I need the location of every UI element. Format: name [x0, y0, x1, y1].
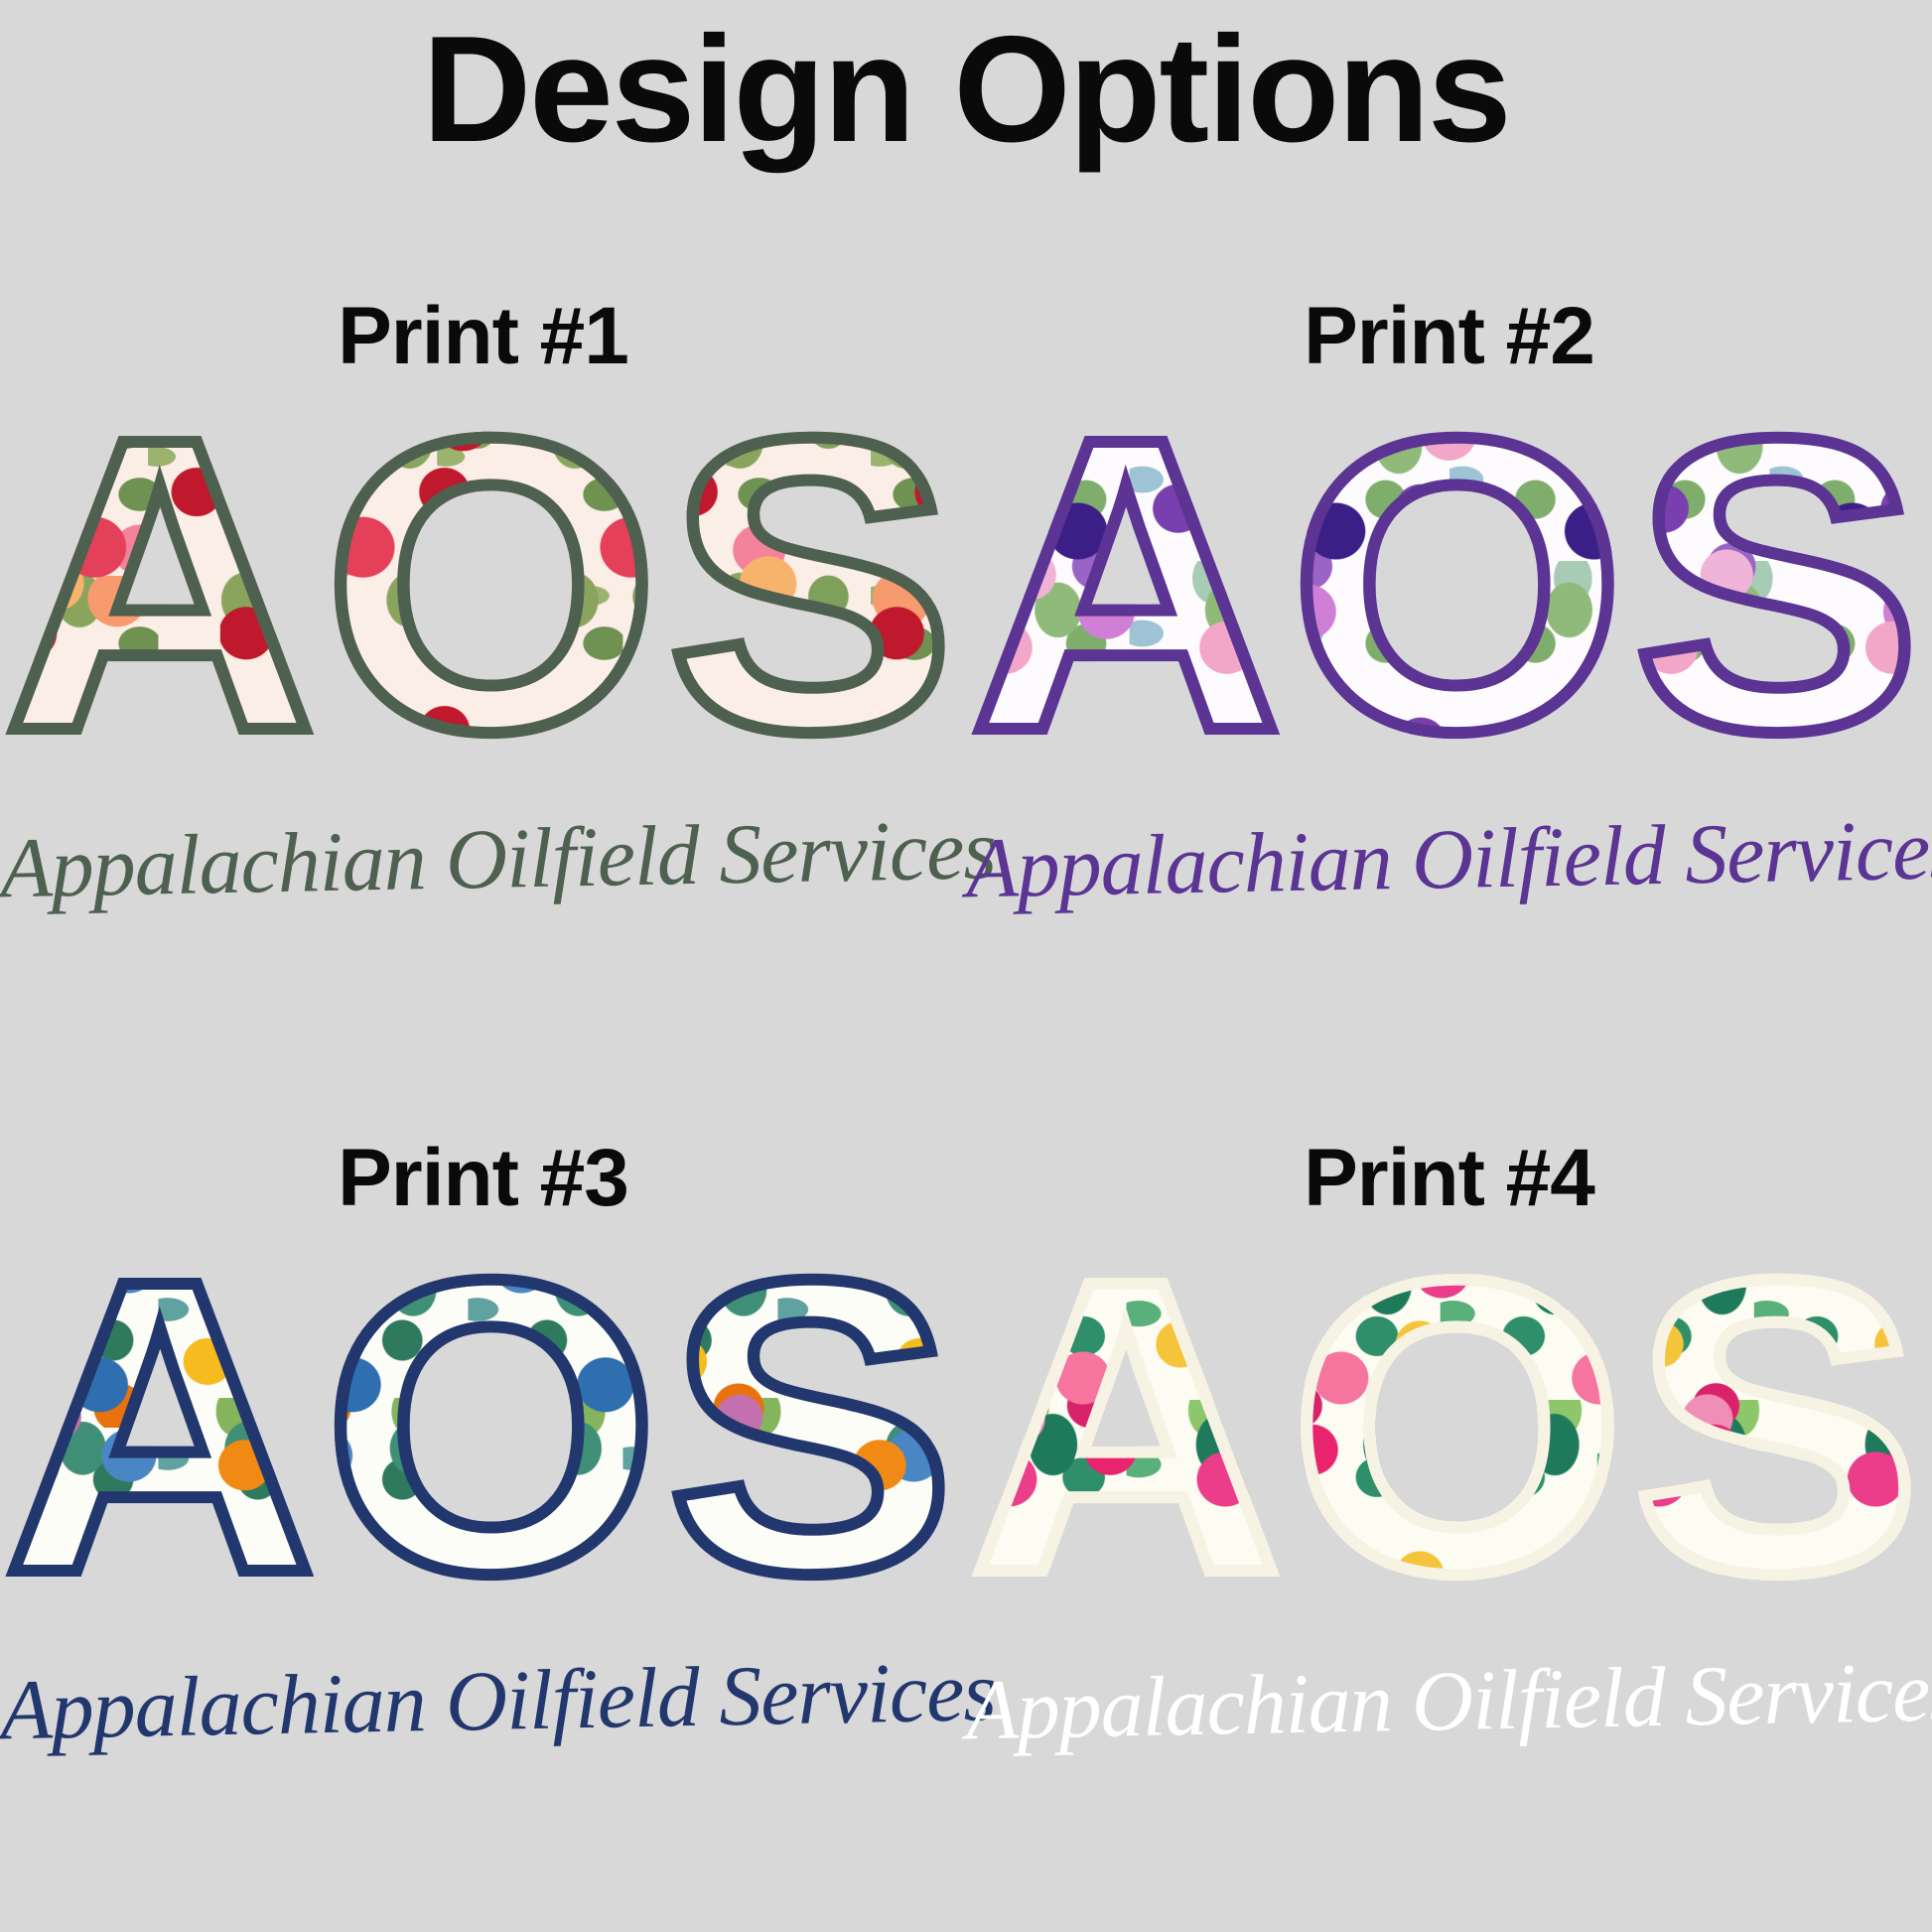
design-option-print-3[interactable]: Print #3 AOS Appalachian Oilfield Servic…: [0, 1090, 966, 1932]
monogram-aos-print-1: AOS: [4, 387, 962, 783]
tagline-print-3: Appalachian Oilfield Services: [0, 1649, 967, 1753]
design-option-print-4[interactable]: Print #4 AOS Appalachian Oilfield Servic…: [966, 1090, 1932, 1932]
tagline-print-4: Appalachian Oilfield Services: [965, 1649, 1932, 1753]
monogram-wrap-print-1: AOS: [0, 387, 966, 783]
monogram-wrap-print-2: AOS: [966, 387, 1932, 783]
tagline-print-1: Appalachian Oilfield Services: [0, 807, 967, 911]
monogram-aos-print-2: AOS: [970, 387, 1928, 783]
tagline-print-2: Appalachian Oilfield Services: [965, 807, 1932, 911]
design-artwork-print-1: AOS Appalachian Oilfield Services: [0, 387, 966, 943]
design-artwork-print-2: AOS Appalachian Oilfield Services: [966, 387, 1932, 943]
page-title: Design Options: [0, 0, 1932, 165]
monogram-wrap-print-4: AOS: [966, 1229, 1932, 1625]
design-option-print-2[interactable]: Print #2 AOS Appalachian Oilfield Servic…: [966, 248, 1932, 1090]
design-artwork-print-3: AOS Appalachian Oilfield Services: [0, 1229, 966, 1785]
design-option-print-1[interactable]: Print #1 AOS Appalachian Oilfield Servic…: [0, 248, 966, 1090]
monogram-aos-print-3: AOS: [4, 1229, 962, 1625]
design-artwork-print-4: AOS Appalachian Oilfield Services: [966, 1229, 1932, 1785]
design-options-grid: Print #1 AOS Appalachian Oilfield Servic…: [0, 248, 1932, 1932]
monogram-aos-print-4: AOS: [970, 1229, 1928, 1625]
monogram-wrap-print-3: AOS: [0, 1229, 966, 1625]
